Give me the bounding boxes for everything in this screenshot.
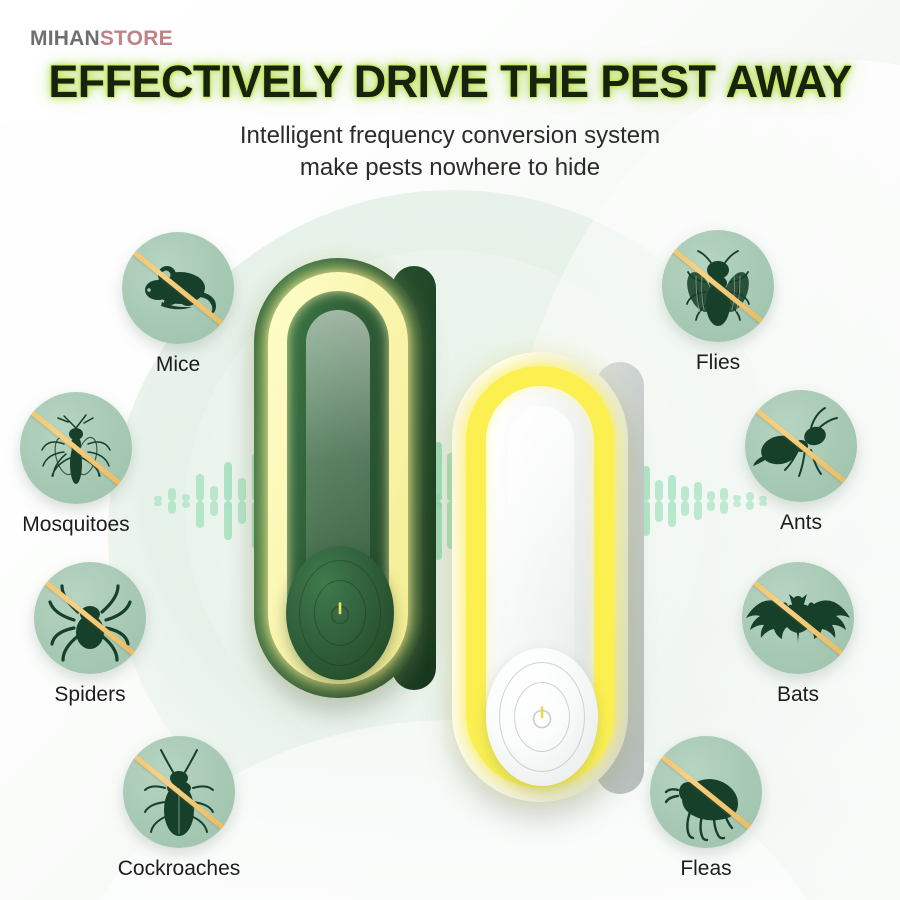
soundwave-bar [182,494,190,501]
plug-in-repeller-green [254,258,422,698]
soundwave-bar [681,486,689,501]
pest-badge-mice[interactable]: Mice [122,232,234,377]
pest-label-flies: Flies [662,351,774,375]
soundwave-bar [655,480,663,501]
soundwave-bar [196,474,204,501]
power-icon[interactable] [325,598,355,628]
soundwave-bar [707,491,715,501]
pest-badge-bats[interactable]: Bats [742,562,854,707]
pest-label-ants: Ants [745,511,857,535]
soundwave-bar [238,478,246,501]
pest-label-fleas: Fleas [650,857,762,881]
pest-badge-disc [20,392,132,504]
pest-badge-cockroaches[interactable]: Cockroaches [89,736,269,881]
pest-badge-disc [122,232,234,344]
pest-badge-disc [742,562,854,674]
device-green-button-housing[interactable] [286,546,394,680]
pest-label-bats: Bats [742,683,854,707]
soundwave-bar [224,462,232,501]
plug-in-repeller-white [452,352,628,802]
pest-label-mice: Mice [122,353,234,377]
product-infographic: MIHANSTORE EFFECTIVELY DRIVE THE PEST AW… [0,0,900,900]
pest-badge-disc [745,390,857,502]
soundwave-bar [733,495,741,501]
brand-name-prefix: MIHAN [30,27,100,50]
pest-badge-spiders[interactable]: Spiders [34,562,146,707]
pest-label-mosquitoes: Mosquitoes [0,513,166,537]
pest-badge-disc [662,230,774,342]
soundwave-bar [668,475,676,501]
pest-badge-disc [34,562,146,674]
soundwave-bar [168,488,176,501]
subtitle-line-2: make pests nowhere to hide [0,152,900,184]
soundwave-bar [720,488,728,501]
pest-badge-disc [123,736,235,848]
page-subtitle: Intelligent frequency conversion system … [0,120,900,184]
power-icon[interactable] [527,702,557,732]
device-white-button-housing[interactable] [486,648,598,786]
subtitle-line-1: Intelligent frequency conversion system [0,120,900,152]
page-title: EFFECTIVELY DRIVE THE PEST AWAY [0,56,900,108]
brand-logo: MIHANSTORE [30,27,173,51]
pest-badge-disc [650,736,762,848]
pest-badge-mosquitoes[interactable]: Mosquitoes [0,392,166,537]
pest-label-cockroaches: Cockroaches [89,857,269,881]
pest-badge-flies[interactable]: Flies [662,230,774,375]
pest-label-spiders: Spiders [34,683,146,707]
pest-badge-ants[interactable]: Ants [745,390,857,535]
pest-badge-fleas[interactable]: Fleas [650,736,762,881]
soundwave-bar [210,486,218,501]
brand-name-suffix: STORE [100,27,173,50]
soundwave-bar [694,482,702,501]
